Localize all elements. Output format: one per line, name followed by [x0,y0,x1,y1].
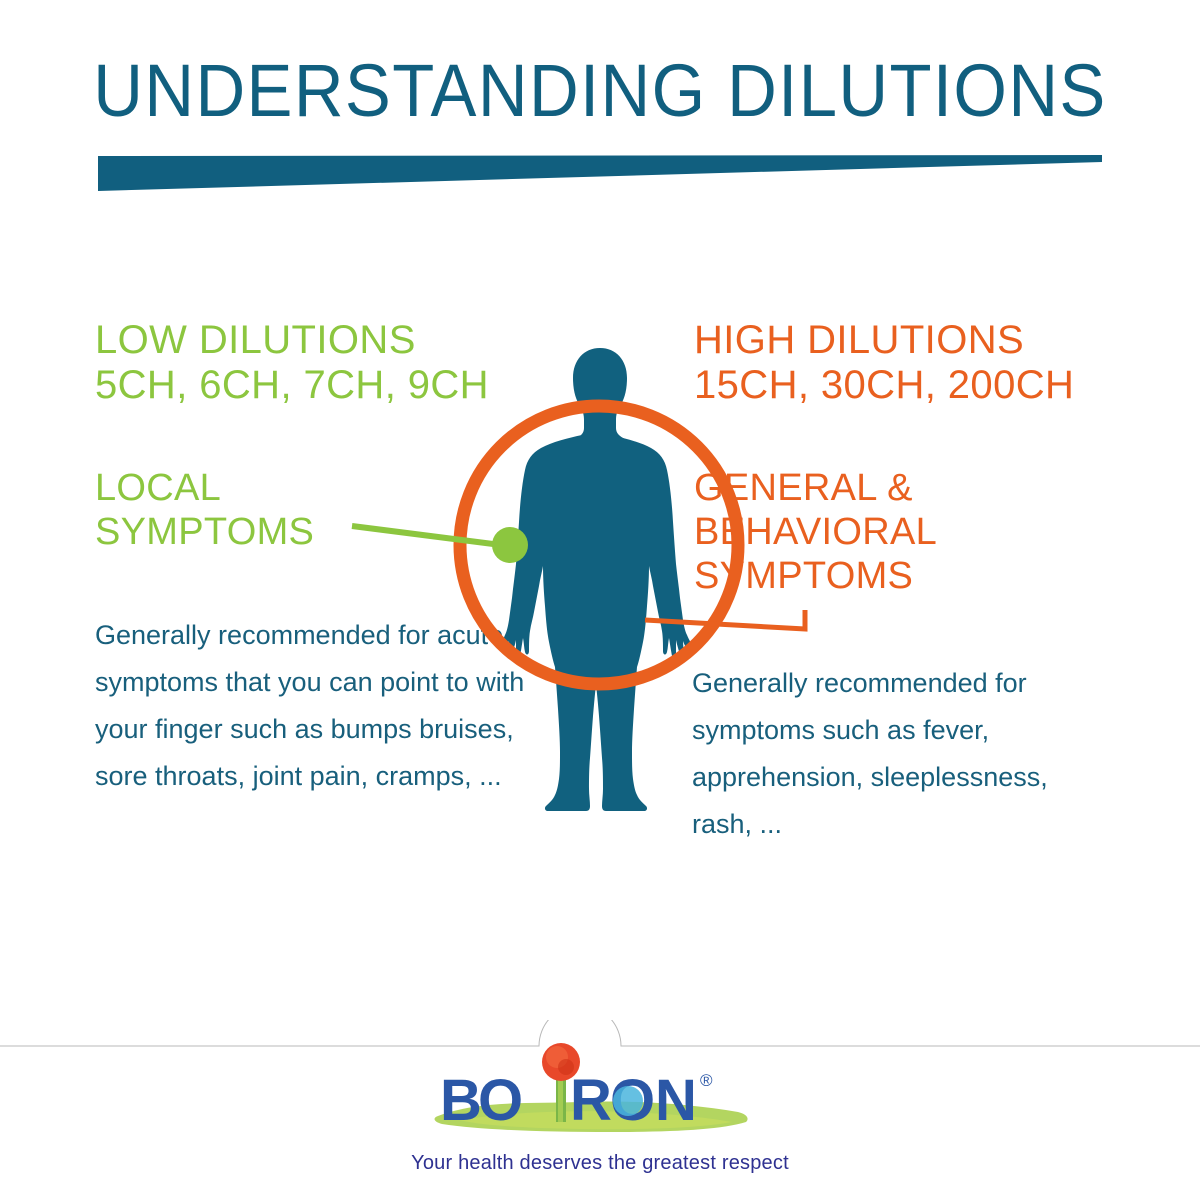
svg-text:N: N [655,1068,698,1133]
svg-text:O: O [478,1068,524,1133]
low-dilutions-heading-line1: LOW DILUTIONS [95,318,416,362]
title-block: UNDERSTANDING DILUTIONS [0,48,1200,134]
local-symptoms-heading: LOCAL SYMPTOMS [95,466,314,554]
local-symptoms-heading-line1: LOCAL [95,466,314,510]
blue-circle-icon [613,1086,643,1116]
svg-text:R: R [570,1068,613,1133]
local-symptoms-heading-line2: SYMPTOMS [95,510,314,554]
registered-mark: ® [700,1071,713,1090]
page-title: UNDERSTANDING DILUTIONS [42,48,1158,134]
body-figure-diagram [430,340,770,880]
svg-text:B: B [440,1068,483,1133]
boiron-logo[interactable]: B O R O N ® [420,1040,780,1145]
footer-tagline: Your health deserves the greatest respec… [0,1152,1200,1175]
title-rule-icon [98,155,1102,191]
